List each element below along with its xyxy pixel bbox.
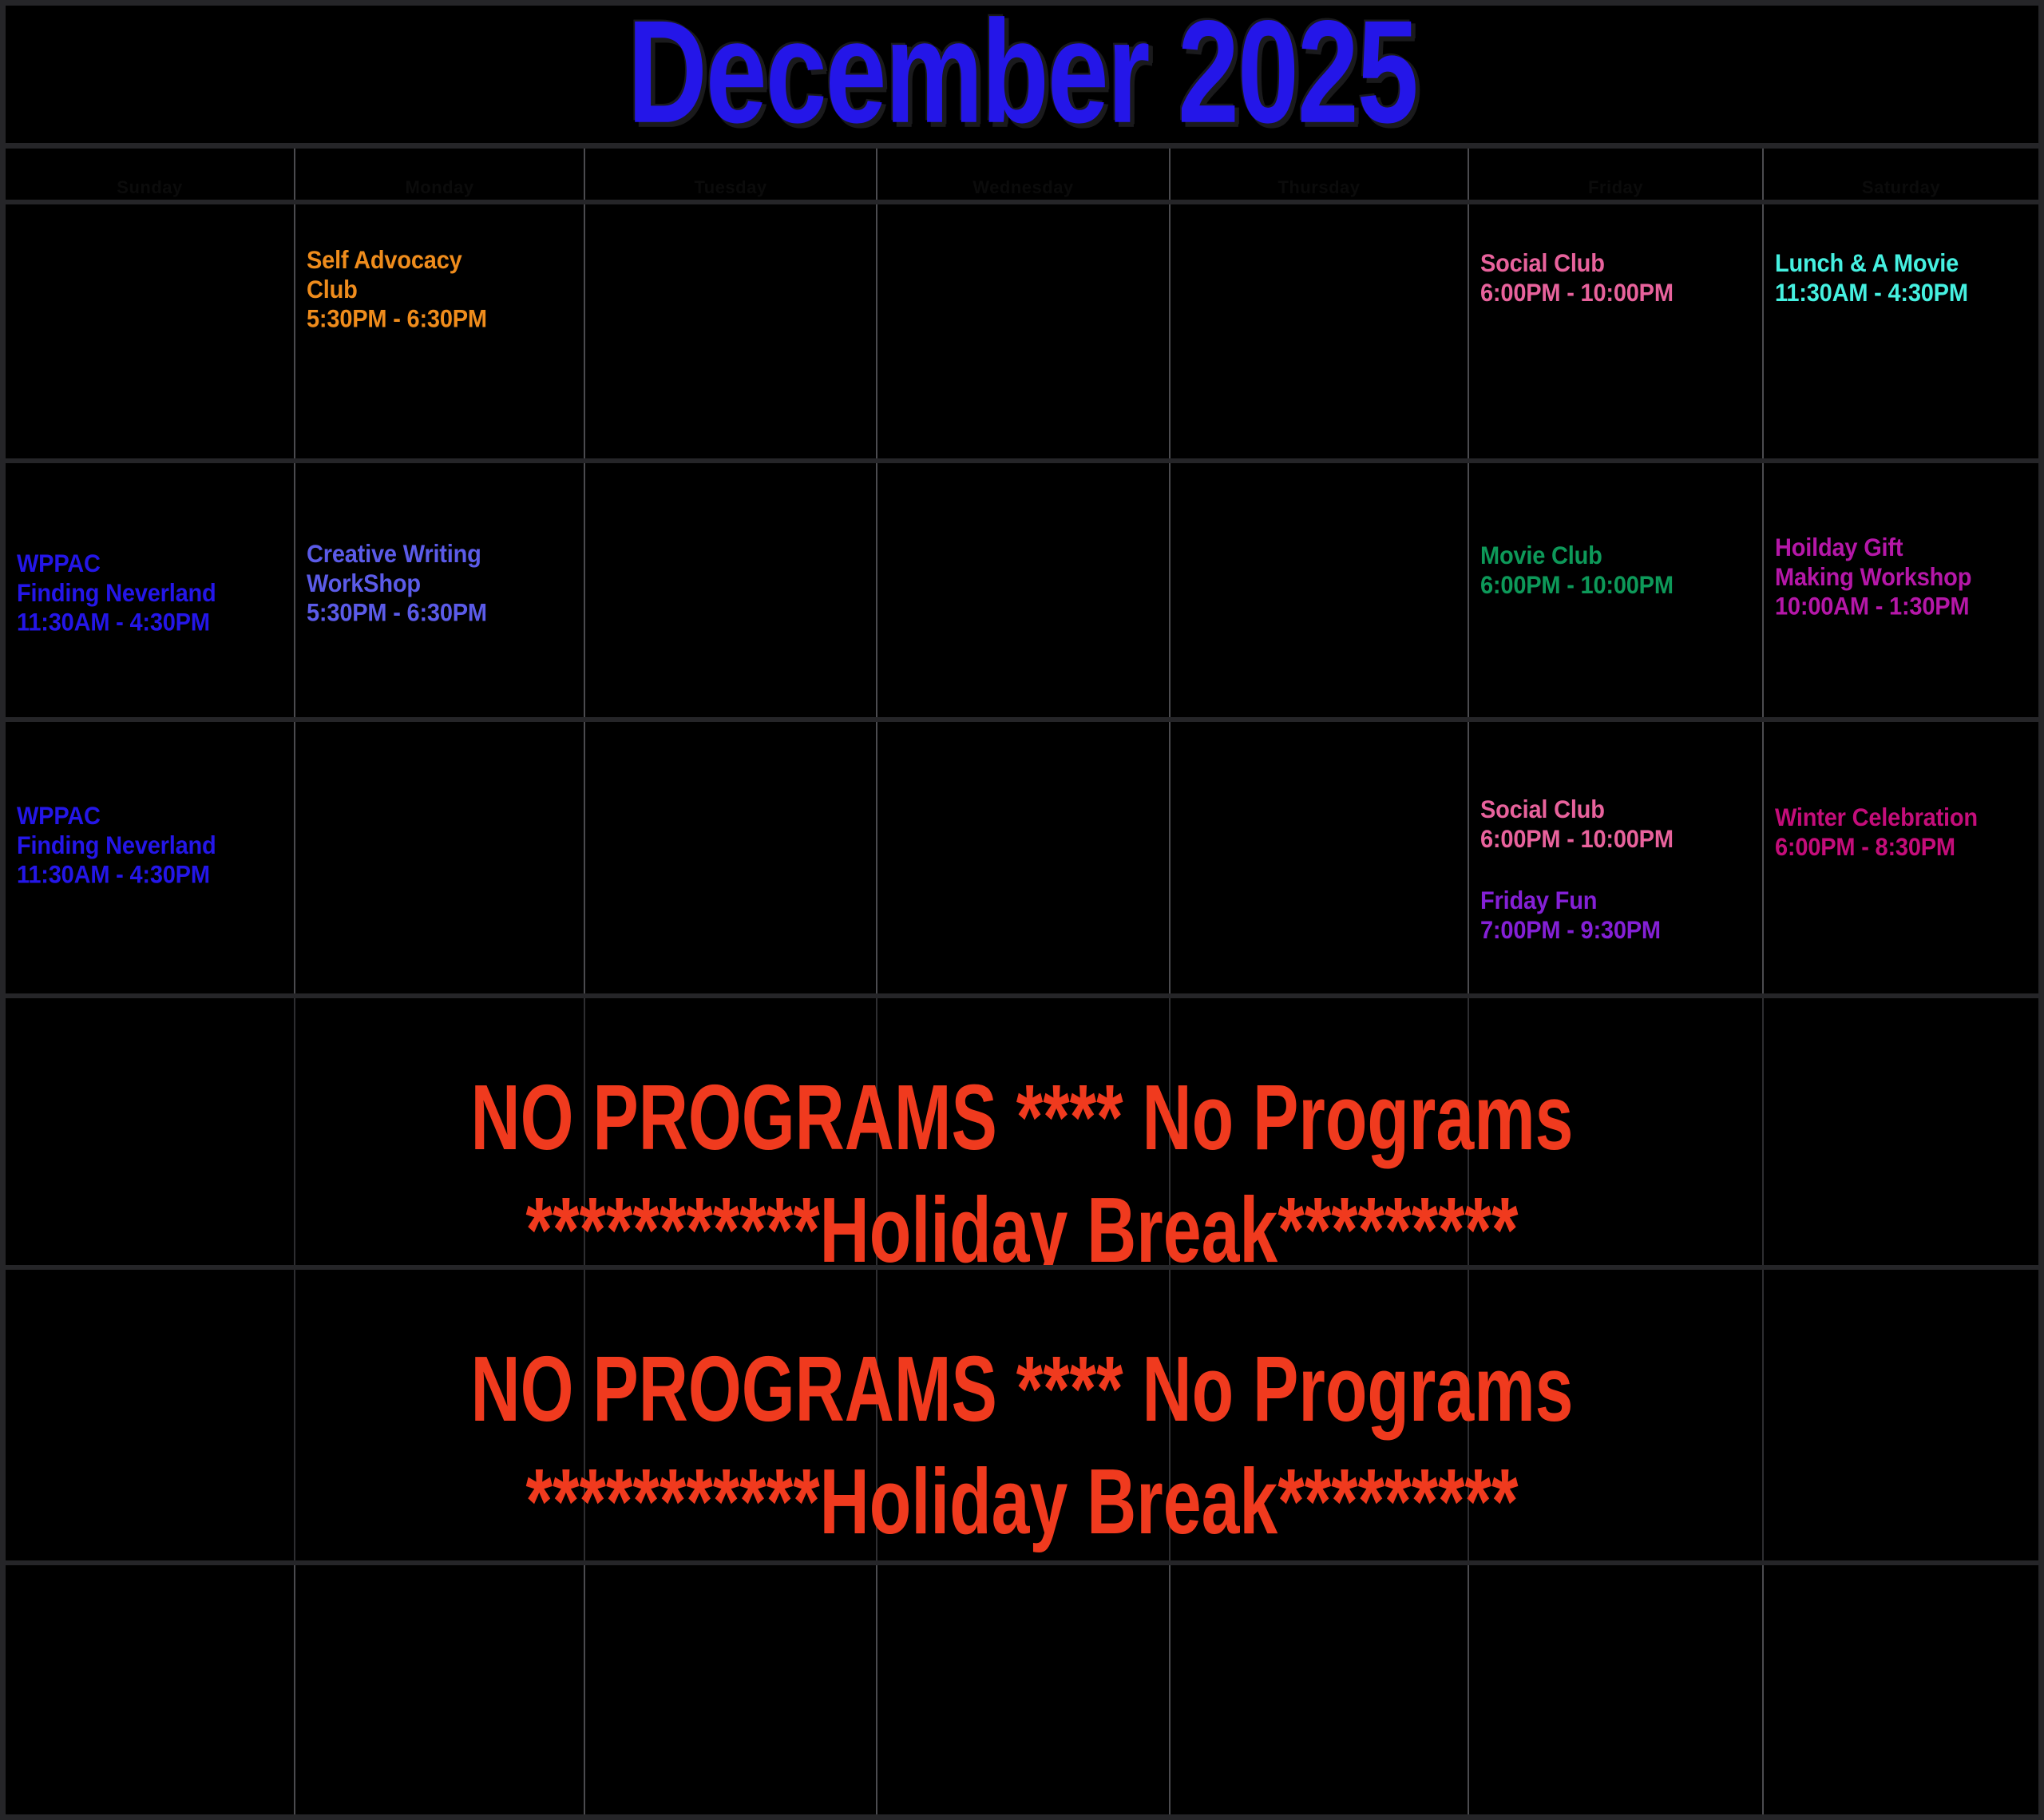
day-cell[interactable] [1171,1565,1469,1814]
event-time: 11:30AM - 4:30PM [17,609,283,638]
holiday-break-text: ***********Holiday Break********* [6,1456,2038,1548]
day-cell[interactable]: WPPAC Finding Neverland11:30AM - 4:30PM [6,463,295,717]
day-cell[interactable]: WPPAC Finding Neverland11:30AM - 4:30PM [6,722,295,993]
event-name: WPPAC Finding Neverland [17,549,283,609]
event-name: Movie Club [1480,541,1751,571]
day-cell[interactable]: Lunch & A Movie11:30AM - 4:30PM [1764,204,2038,458]
event-name: Social Club [1480,795,1751,825]
calendar-title-band: December 2025 [6,6,2038,143]
day-cell[interactable] [585,463,877,717]
event-time: 6:00PM - 8:30PM [1775,833,2027,862]
day-cell[interactable] [877,204,1171,458]
calendar-event[interactable]: Friday Fun7:00PM - 9:30PM [1480,886,1751,946]
event-name: Winter Celebration [1775,803,2027,833]
event-name: Hoilday Gift Making Workshop [1775,533,2027,593]
day-cell[interactable] [6,204,295,458]
week-row-3: WPPAC Finding Neverland11:30AM - 4:30PM … [6,722,2038,993]
day-header-cell: Monday [295,149,585,200]
calendar-event[interactable]: WPPAC Finding Neverland11:30AM - 4:30PM [17,802,283,890]
holiday-break-banner-row-1: NO PROGRAMS **** No Programs ***********… [6,998,2038,1265]
day-header-cell: Thursday [1171,149,1469,200]
day-header-label: Wednesday [877,177,1169,198]
day-header-cell: Saturday [1764,149,2038,200]
day-cell[interactable] [295,722,585,993]
week-row-last [6,1565,2038,1814]
day-header-label: Monday [295,177,584,198]
holiday-break-banner-row-2: NO PROGRAMS **** No Programs ***********… [6,1270,2038,1560]
event-time: 6:00PM - 10:00PM [1480,571,1751,601]
calendar-event[interactable]: Social Club6:00PM - 10:00PM [1480,795,1751,854]
calendar-event[interactable]: Winter Celebration6:00PM - 8:30PM [1775,803,2027,862]
event-name: Lunch & A Movie [1775,249,2027,279]
event-name: Self Advocacy Club [307,246,572,305]
day-cell[interactable]: Social Club6:00PM - 10:00PMFriday Fun7:0… [1469,722,1764,993]
week-row-2: WPPAC Finding Neverland11:30AM - 4:30PM … [6,463,2038,717]
event-time: 6:00PM - 10:00PM [1480,825,1751,854]
day-cell[interactable] [1469,1565,1764,1814]
no-programs-text: NO PROGRAMS **** No Programs [6,1343,2038,1436]
day-header-label: Sunday [6,177,294,198]
event-name: Creative Writing WorkShop [307,540,572,599]
day-cell[interactable] [585,204,877,458]
calendar-event[interactable]: WPPAC Finding Neverland11:30AM - 4:30PM [17,549,283,638]
day-cell[interactable] [1171,722,1469,993]
calendar-event[interactable]: Movie Club6:00PM - 10:00PM [1480,541,1751,601]
day-cell[interactable] [877,463,1171,717]
day-cell[interactable] [877,722,1171,993]
calendar-event[interactable]: Creative Writing WorkShop5:30PM - 6:30PM [307,540,572,628]
page-title: December 2025 [628,6,1417,143]
day-cell[interactable]: Winter Celebration6:00PM - 8:30PM [1764,722,2038,993]
day-cell[interactable]: Self Advocacy Club5:30PM - 6:30PM [295,204,585,458]
event-time: 7:00PM - 9:30PM [1480,916,1751,946]
event-name: Social Club [1480,249,1751,279]
day-cell[interactable]: Hoilday Gift Making Workshop10:00AM - 1:… [1764,463,2038,717]
day-cell[interactable] [585,722,877,993]
day-header-cell: Wednesday [877,149,1171,200]
day-cell[interactable]: Movie Club6:00PM - 10:00PM [1469,463,1764,717]
day-header-label: Friday [1469,177,1762,198]
day-cell[interactable]: Creative Writing WorkShop5:30PM - 6:30PM [295,463,585,717]
event-name: Friday Fun [1480,886,1751,916]
day-cell[interactable] [1171,204,1469,458]
day-header-row: Sunday Monday Tuesday Wednesday Thursday… [6,149,2038,200]
day-cell[interactable] [877,1565,1171,1814]
day-header-cell: Tuesday [585,149,877,200]
event-time: 10:00AM - 1:30PM [1775,593,2027,622]
day-cell[interactable] [6,1565,295,1814]
calendar-event[interactable]: Social Club6:00PM - 10:00PM [1480,249,1751,308]
event-name: WPPAC Finding Neverland [17,802,283,861]
holiday-break-text: ***********Holiday Break********* [6,1184,2038,1265]
day-header-cell: Friday [1469,149,1764,200]
event-time: 5:30PM - 6:30PM [307,599,572,628]
day-header-cell: Sunday [6,149,295,200]
day-cell[interactable] [295,1565,585,1814]
event-time: 11:30AM - 4:30PM [17,861,283,890]
week-row-1: Self Advocacy Club5:30PM - 6:30PM Social… [6,204,2038,458]
calendar-event[interactable]: Lunch & A Movie11:30AM - 4:30PM [1775,249,2027,308]
day-cell[interactable] [1764,1565,2038,1814]
event-time: 6:00PM - 10:00PM [1480,279,1751,308]
day-cell[interactable] [585,1565,877,1814]
day-cell[interactable] [1171,463,1469,717]
calendar-event[interactable]: Hoilday Gift Making Workshop10:00AM - 1:… [1775,533,2027,622]
event-time: 11:30AM - 4:30PM [1775,279,2027,308]
calendar-page: December 2025 Sunday Monday Tuesday Wedn… [0,0,2044,1820]
no-programs-text: NO PROGRAMS **** No Programs [6,1072,2038,1164]
day-header-label: Tuesday [585,177,876,198]
calendar-event[interactable]: Self Advocacy Club5:30PM - 6:30PM [307,246,572,335]
event-time: 5:30PM - 6:30PM [307,305,572,335]
day-header-label: Saturday [1764,177,2038,198]
day-cell[interactable]: Social Club6:00PM - 10:00PM [1469,204,1764,458]
day-header-label: Thursday [1171,177,1468,198]
